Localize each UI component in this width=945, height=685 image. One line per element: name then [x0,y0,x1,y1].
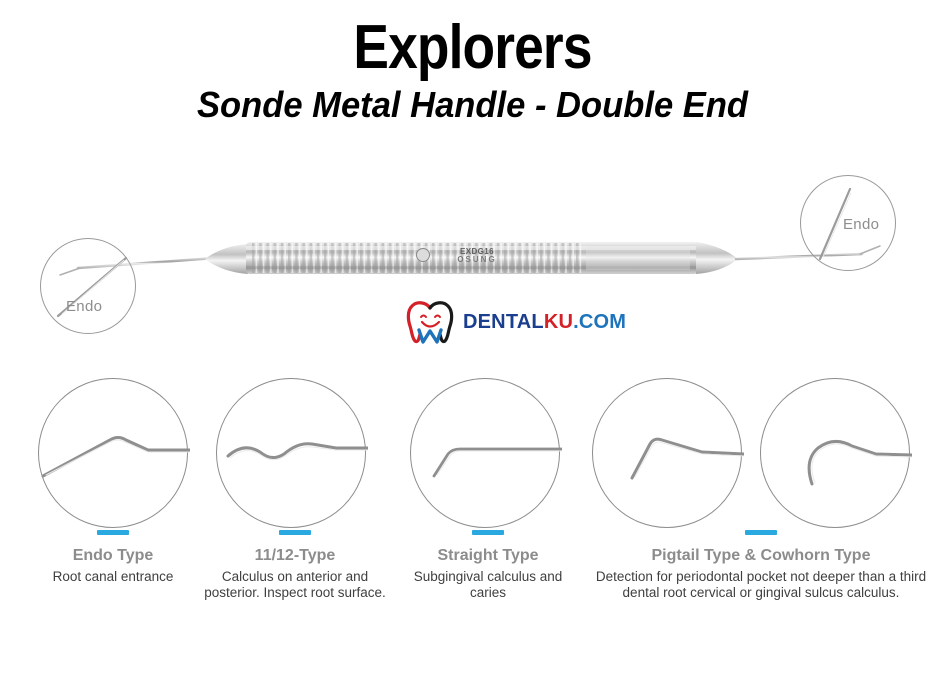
callout-left-tip-svg [40,238,136,334]
caption-title-endo: Endo Type [18,547,208,565]
page-subtitle: Sonde Metal Handle - Double End [19,84,926,126]
tip-shape-1112 [216,378,368,530]
header: Explorers Sonde Metal Handle - Double En… [0,16,945,126]
caption-title-pigtail-cowhorn: Pigtail Type & Cowhorn Type [586,547,936,565]
page-title: Explorers [66,16,879,80]
tip-shape-endo [38,378,190,530]
caption-desc-endo: Root canal entrance [18,569,208,585]
tip-shape-pigtail [592,378,744,530]
logo-text-dental: DENTAL [463,311,544,333]
logo-text-ku: KU [544,311,573,333]
caption-desc-1112: Calculus on anterior and posterior. Insp… [196,569,394,601]
accent-bar-pigtail-cowhorn [745,530,777,535]
caption-endo: Endo Type Root canal entrance [18,530,208,585]
accent-bar-endo [97,530,129,535]
tooth-icon [406,300,456,344]
logo-wordmark: DENTALKU.COM [463,311,626,334]
accent-bar-straight [472,530,504,535]
product-info-page: Explorers Sonde Metal Handle - Double En… [0,0,945,685]
callout-label-left: Endo [66,298,102,315]
caption-desc-straight: Subgingival calculus and caries [398,569,578,601]
brand-badge-icon [416,248,430,262]
logo-text-com: .COM [573,311,626,333]
tip-gallery [0,375,945,535]
tip-shape-straight [410,378,562,530]
caption-1112: 11/12-Type Calculus on anterior and post… [196,530,394,601]
caption-straight: Straight Type Subgingival calculus and c… [398,530,578,601]
accent-bar-1112 [279,530,311,535]
tip-shape-cowhorn [760,378,912,530]
brand-logo[interactable]: DENTALKU.COM [406,300,626,344]
callout-label-right: Endo [843,216,879,233]
caption-title-1112: 11/12-Type [196,547,394,565]
caption-desc-pigtail-cowhorn: Detection for periodontal pocket not dee… [586,569,936,601]
caption-pigtail-cowhorn: Pigtail Type & Cowhorn Type Detection fo… [586,530,936,601]
caption-title-straight: Straight Type [398,547,578,565]
